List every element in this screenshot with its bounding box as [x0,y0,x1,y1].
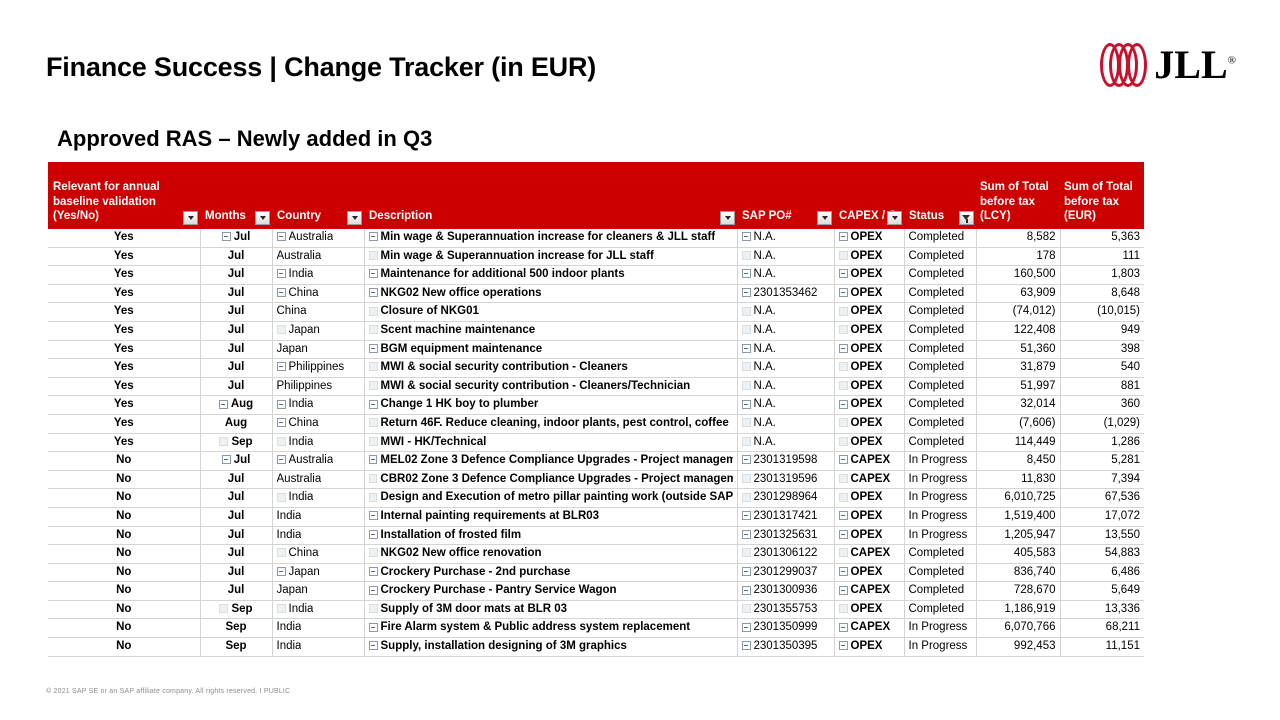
cell-description-text: MWI & social security contribution - Cle… [381,378,691,396]
cell-sum-eur: (1,029) [1060,414,1144,433]
pivot-toggle-placeholder-icon [369,493,378,502]
cell-sum-lcy: 160,500 [976,266,1060,285]
cell-relevant-text: No [116,491,131,503]
cell-status-text: Completed [909,547,965,559]
cell-status: Completed [904,247,976,266]
cell-sum-eur: 54,883 [1060,545,1144,564]
pivot-collapse-icon[interactable] [839,623,848,632]
cell-relevant-text: Yes [114,343,134,355]
chevron-down-icon [188,216,194,220]
pivot-toggle-placeholder-icon [839,307,848,316]
cell-description-text: Closure of NKG01 [381,303,479,321]
cell-status: In Progress [904,619,976,638]
cell-relevant: Yes [48,284,200,303]
cell-sap-po: N.A. [737,321,834,340]
cell-sum-lcy-text: 836,740 [1014,566,1056,578]
filter-dropdown-country[interactable] [347,211,362,225]
cell-status-text: Completed [909,417,965,429]
table-row: YesJulIndiaMaintenance for additional 50… [48,266,1144,285]
pivot-collapse-icon[interactable] [277,418,286,427]
pivot-toggle-placeholder-icon [742,307,751,316]
table-row: YesJulPhilippinesMWI & social security c… [48,377,1144,396]
cell-relevant: No [48,563,200,582]
cell-status-text: In Progress [909,621,968,633]
cell-months: Jul [200,284,272,303]
cell-sum-eur-text: 540 [1121,361,1140,373]
cell-sap-po: 2301325631 [737,526,834,545]
cell-description-text: Fire Alarm system & Public address syste… [381,619,691,637]
cell-status-text: In Progress [909,491,968,503]
table-row: YesJulJapanScent machine maintenanceN.A.… [48,321,1144,340]
cell-status: Completed [904,266,976,285]
cell-sum-eur: 881 [1060,377,1144,396]
cell-country: China [272,284,364,303]
pivot-collapse-icon[interactable] [222,232,231,241]
cell-sap-po: 2301319598 [737,452,834,471]
cell-description: Supply of 3M door mats at BLR 03 [364,600,737,619]
cell-country: Japan [272,563,364,582]
cell-country: China [272,545,364,564]
cell-sap-po-text: N.A. [754,341,776,359]
cell-description: Internal painting requirements at BLR03 [364,507,737,526]
column-header-sum-eur-label: Sum of Total before tax (EUR) [1064,180,1144,224]
cell-sum-lcy-text: 728,670 [1014,584,1056,596]
cell-sum-eur: 68,211 [1060,619,1144,638]
cell-sum-lcy: 114,449 [976,433,1060,452]
cell-capex-opex-text: CAPEX [851,582,891,600]
cell-country-text: China [289,415,319,433]
table-row: NoJulIndiaInstallation of frosted film23… [48,526,1144,545]
cell-status: In Progress [904,526,976,545]
pivot-collapse-icon[interactable] [369,567,378,576]
cell-months: Jul [200,303,272,322]
pivot-collapse-icon[interactable] [742,623,751,632]
cell-sum-lcy-text: 1,519,400 [1004,510,1055,522]
pivot-collapse-icon[interactable] [742,586,751,595]
cell-capex-opex-text: CAPEX [851,471,891,489]
cell-sum-eur-text: 5,281 [1111,454,1140,466]
cell-status-text: In Progress [909,473,968,485]
column-header-sap-po: SAP PO# [737,162,834,229]
pivot-collapse-icon[interactable] [369,288,378,297]
cell-capex-opex: OPEX [834,266,904,285]
cell-sum-lcy: 1,186,919 [976,600,1060,619]
cell-relevant: No [48,638,200,657]
pivot-collapse-icon[interactable] [277,567,286,576]
pivot-toggle-placeholder-icon [369,307,378,316]
pivot-collapse-icon[interactable] [742,455,751,464]
cell-country: India [272,433,364,452]
table-row: NoJulChinaNKG02 New office renovation230… [48,545,1144,564]
cell-relevant: Yes [48,303,200,322]
cell-country-text: Japan [277,582,308,600]
cell-capex-opex-text: CAPEX [851,619,891,637]
cell-description: Scent machine maintenance [364,321,737,340]
jll-wordmark: JLL® [1154,45,1236,85]
cell-sum-eur-text: 11,151 [1106,640,1140,652]
cell-country-text: India [277,527,302,545]
cell-relevant-text: No [116,584,131,596]
cell-sum-eur: 11,151 [1060,638,1144,657]
cell-months-text: Jul [228,508,245,526]
cell-sap-po: N.A. [737,266,834,285]
pivot-toggle-placeholder-icon [369,325,378,334]
cell-sum-lcy: 1,519,400 [976,507,1060,526]
cell-sum-lcy: 6,010,725 [976,489,1060,508]
cell-country: Philippines [272,377,364,396]
cell-capex-opex: OPEX [834,284,904,303]
cell-description-text: Crockery Purchase - 2nd purchase [381,564,571,582]
cell-relevant-text: Yes [114,361,134,373]
cell-sum-lcy-text: 63,909 [1020,287,1055,299]
pivot-toggle-placeholder-icon [369,548,378,557]
pivot-collapse-icon[interactable] [369,511,378,520]
pivot-toggle-placeholder-icon [742,437,751,446]
cell-sum-eur-text: 68,211 [1106,621,1140,633]
pivot-toggle-placeholder-icon [742,251,751,260]
cell-status: Completed [904,396,976,415]
cell-capex-opex: OPEX [834,638,904,657]
cell-sum-lcy-text: 114,449 [1015,436,1056,448]
cell-sum-eur-text: 13,550 [1105,529,1140,541]
cell-sum-lcy: 63,909 [976,284,1060,303]
cell-months-text: Jul [228,489,245,507]
pivot-toggle-placeholder-icon [742,418,751,427]
cell-sum-lcy-text: 6,070,766 [1004,621,1055,633]
cell-sap-po-text: 2301306122 [754,545,818,563]
cell-sap-po: N.A. [737,359,834,378]
pivot-collapse-icon[interactable] [277,288,286,297]
cell-months-text: Sep [231,434,252,452]
cell-status-text: Completed [909,361,965,373]
pivot-toggle-placeholder-icon [369,474,378,483]
cell-relevant-text: No [116,454,131,466]
cell-sap-po: 2301317421 [737,507,834,526]
column-header-relevant-label: Relevant for annual baseline validation … [53,180,200,224]
pivot-collapse-icon[interactable] [369,455,378,464]
pivot-collapse-icon[interactable] [742,232,751,241]
cell-description: MWI & social security contribution - Cle… [364,359,737,378]
cell-country: Japan [272,321,364,340]
cell-sum-lcy: 992,453 [976,638,1060,657]
pivot-collapse-icon[interactable] [839,567,848,576]
cell-description: Design and Execution of metro pillar pai… [364,489,737,508]
pivot-collapse-icon[interactable] [369,344,378,353]
pivot-toggle-placeholder-icon [369,418,378,427]
pivot-collapse-icon[interactable] [742,530,751,539]
cell-capex-opex-text: OPEX [851,359,883,377]
pivot-toggle-placeholder-icon [839,604,848,613]
pivot-toggle-placeholder-icon [839,362,848,371]
column-header-sum-eur: Sum of Total before tax (EUR) [1060,162,1144,229]
cell-sum-eur-text: (1,029) [1104,417,1140,429]
column-header-relevant: Relevant for annual baseline validation … [48,162,200,229]
pivot-collapse-icon[interactable] [369,400,378,409]
cell-description: MEL02 Zone 3 Defence Compliance Upgrades… [364,452,737,471]
cell-months: Aug [200,396,272,415]
cell-description: Change 1 HK boy to plumber [364,396,737,415]
cell-sum-lcy: 8,582 [976,229,1060,247]
cell-capex-opex-text: OPEX [851,564,883,582]
pivot-collapse-icon[interactable] [742,400,751,409]
cell-relevant: Yes [48,247,200,266]
cell-sum-lcy-text: 405,583 [1014,547,1056,559]
pivot-toggle-placeholder-icon [369,437,378,446]
pivot-collapse-icon[interactable] [219,400,228,409]
cell-country: China [272,303,364,322]
cell-sap-po-text: 2301299037 [754,564,818,582]
cell-sum-eur-text: 1,286 [1111,436,1140,448]
chevron-down-icon [725,216,731,220]
cell-capex-opex-text: OPEX [851,229,883,247]
cell-sum-lcy-text: (7,606) [1019,417,1055,429]
cell-sum-eur: 5,649 [1060,582,1144,601]
cell-sum-eur: 13,550 [1060,526,1144,545]
cell-status-text: Completed [909,380,965,392]
cell-description: Return 46F. Reduce cleaning, indoor plan… [364,414,737,433]
pivot-collapse-icon[interactable] [839,400,848,409]
cell-capex-opex: OPEX [834,563,904,582]
cell-description: MWI & social security contribution - Cle… [364,377,737,396]
cell-relevant-text: Yes [114,250,134,262]
cell-sap-po: 2301299037 [737,563,834,582]
column-header-country: Country [272,162,364,229]
table-row: YesJulAustraliaMin wage & Superannuation… [48,247,1144,266]
cell-relevant-text: No [116,566,131,578]
cell-sum-eur: 8,648 [1060,284,1144,303]
pivot-collapse-icon[interactable] [222,455,231,464]
pivot-collapse-icon[interactable] [369,641,378,650]
cell-country: Australia [272,452,364,471]
cell-description-text: Crockery Purchase - Pantry Service Wagon [381,582,617,600]
cell-capex-opex-text: OPEX [851,378,883,396]
cell-months: Jul [200,340,272,359]
cell-sap-po-text: N.A. [754,378,776,396]
pivot-collapse-icon[interactable] [742,344,751,353]
pivot-collapse-icon[interactable] [839,530,848,539]
cell-sum-lcy: (74,012) [976,303,1060,322]
cell-status-text: In Progress [909,529,968,541]
cell-sum-eur: 111 [1060,247,1144,266]
filter-dropdown-capex-opex[interactable] [887,211,902,225]
pivot-collapse-icon[interactable] [742,567,751,576]
pivot-collapse-icon[interactable] [277,232,286,241]
pivot-collapse-icon[interactable] [839,288,848,297]
cell-status-text: Completed [909,436,965,448]
cell-sum-eur-text: 1,803 [1111,268,1140,280]
pivot-collapse-icon[interactable] [839,511,848,520]
pivot-collapse-icon[interactable] [369,623,378,632]
cell-months: Jul [200,489,272,508]
cell-description-text: Maintenance for additional 500 indoor pl… [381,266,625,284]
cell-relevant: Yes [48,414,200,433]
pivot-collapse-icon[interactable] [839,586,848,595]
cell-capex-opex: OPEX [834,526,904,545]
filter-dropdown-relevant[interactable] [183,211,198,225]
cell-country-text: Australia [277,471,322,489]
pivot-collapse-icon[interactable] [742,511,751,520]
table-row: YesAugChinaReturn 46F. Reduce cleaning, … [48,414,1144,433]
cell-relevant: Yes [48,229,200,247]
cell-sap-po-text: N.A. [754,322,776,340]
cell-country: India [272,619,364,638]
pivot-collapse-icon[interactable] [369,586,378,595]
cell-months: Aug [200,414,272,433]
cell-capex-opex-text: OPEX [851,266,883,284]
cell-description-text: MWI - HK/Technical [381,434,487,452]
cell-sum-lcy-text: 1,186,919 [1004,603,1055,615]
cell-sum-eur: 13,336 [1060,600,1144,619]
cell-sap-po: 2301298964 [737,489,834,508]
cell-sap-po: 2301355753 [737,600,834,619]
cell-months-text: Jul [228,564,245,582]
cell-description-text: Internal painting requirements at BLR03 [381,508,600,526]
cell-months: Jul [200,507,272,526]
cell-country: Australia [272,247,364,266]
cell-relevant: No [48,619,200,638]
cell-relevant-text: Yes [114,324,134,336]
cell-capex-opex: OPEX [834,414,904,433]
pivot-collapse-icon[interactable] [839,344,848,353]
cell-status: Completed [904,545,976,564]
cell-sap-po-text: 2301355753 [754,601,818,619]
pivot-toggle-placeholder-icon [839,381,848,390]
cell-sum-lcy-text: 32,014 [1020,398,1055,410]
cell-country-text: India [289,396,314,414]
table-row: YesSepIndiaMWI - HK/TechnicalN.A.OPEXCom… [48,433,1144,452]
pivot-collapse-icon[interactable] [839,232,848,241]
cell-months-text: Jul [228,248,245,266]
cell-capex-opex: OPEX [834,340,904,359]
pivot-toggle-placeholder-icon [839,437,848,446]
cell-description-text: Installation of frosted film [381,527,522,545]
pivot-toggle-placeholder-icon [742,604,751,613]
cell-sap-po-text: N.A. [754,359,776,377]
cell-months: Sep [200,433,272,452]
table-body: YesJulAustraliaMin wage & Superannuation… [48,229,1144,656]
table-row: NoSepIndiaFire Alarm system & Public add… [48,619,1144,638]
cell-country-text: India [289,434,314,452]
pivot-collapse-icon[interactable] [839,641,848,650]
jll-logo: JLL® [1100,42,1236,88]
cell-capex-opex: OPEX [834,359,904,378]
pivot-toggle-placeholder-icon [839,251,848,260]
cell-months-text: Sep [231,601,252,619]
cell-months: Jul [200,526,272,545]
pivot-collapse-icon[interactable] [839,455,848,464]
pivot-collapse-icon[interactable] [369,232,378,241]
cell-sum-lcy: 836,740 [976,563,1060,582]
cell-relevant: Yes [48,396,200,415]
cell-status-text: Completed [909,603,965,615]
filter-dropdown-description[interactable] [720,211,735,225]
cell-sap-po-text: 2301353462 [754,285,818,303]
cell-relevant-text: Yes [114,287,134,299]
cell-months: Sep [200,600,272,619]
cell-relevant: No [48,600,200,619]
column-header-status: Status [904,162,976,229]
cell-country-text: Australia [277,248,322,266]
pivot-collapse-icon[interactable] [277,455,286,464]
cell-relevant: No [48,489,200,508]
filter-dropdown-sap-po[interactable] [817,211,832,225]
pivot-toggle-placeholder-icon [369,251,378,260]
cell-status-text: Completed [909,268,965,280]
cell-sum-lcy-text: (74,012) [1013,305,1056,317]
cell-capex-opex-text: OPEX [851,285,883,303]
cell-country: India [272,526,364,545]
pivot-collapse-icon[interactable] [277,269,286,278]
cell-description-text: Design and Execution of metro pillar pai… [380,489,732,507]
cell-sum-lcy: 1,205,947 [976,526,1060,545]
cell-sum-eur: 949 [1060,321,1144,340]
pivot-collapse-icon[interactable] [277,400,286,409]
cell-country-text: India [289,266,314,284]
cell-sum-lcy: 11,830 [976,470,1060,489]
cell-capex-opex-text: OPEX [851,638,883,656]
cell-status-text: Completed [909,343,965,355]
pivot-collapse-icon[interactable] [277,362,286,371]
pivot-toggle-placeholder-icon [742,325,751,334]
cell-country-text: Japan [289,564,320,582]
cell-country-text: Japan [289,322,320,340]
cell-sum-eur-text: 7,394 [1111,473,1140,485]
cell-country: Japan [272,340,364,359]
cell-relevant-text: No [116,640,131,652]
cell-description-text: NKG02 New office renovation [381,545,542,563]
filter-dropdown-months[interactable] [255,211,270,225]
pivot-collapse-icon[interactable] [742,288,751,297]
pivot-collapse-icon[interactable] [742,269,751,278]
cell-country: India [272,507,364,526]
cell-sap-po-text: N.A. [754,229,776,247]
cell-months-text: Jul [234,229,251,247]
cell-sap-po: N.A. [737,433,834,452]
table-row: YesJulChinaNKG02 New office operations23… [48,284,1144,303]
cell-capex-opex: CAPEX [834,619,904,638]
cell-capex-opex: CAPEX [834,582,904,601]
cell-capex-opex-text: OPEX [851,248,883,266]
cell-sap-po: N.A. [737,414,834,433]
pivot-toggle-placeholder-icon [742,474,751,483]
pivot-collapse-icon[interactable] [839,269,848,278]
pivot-toggle-placeholder-icon [277,548,286,557]
cell-months-text: Jul [228,322,245,340]
cell-country-text: China [277,303,307,321]
cell-sap-po: N.A. [737,340,834,359]
cell-sum-lcy: (7,606) [976,414,1060,433]
cell-country-text: India [289,601,314,619]
pivot-collapse-icon[interactable] [742,641,751,650]
cell-sum-lcy-text: 11,830 [1021,473,1055,485]
table-row: NoJulIndiaDesign and Execution of metro … [48,489,1144,508]
cell-sum-eur: 67,536 [1060,489,1144,508]
cell-capex-opex-text: OPEX [851,508,883,526]
cell-sap-po: 2301306122 [737,545,834,564]
cell-description: Closure of NKG01 [364,303,737,322]
filter-active-status[interactable] [959,211,974,225]
pivot-toggle-placeholder-icon [277,437,286,446]
cell-sum-eur-text: 13,336 [1105,603,1140,615]
pivot-collapse-icon[interactable] [369,269,378,278]
cell-relevant: No [48,507,200,526]
pivot-collapse-icon[interactable] [369,530,378,539]
cell-capex-opex: OPEX [834,377,904,396]
cell-status: Completed [904,303,976,322]
cell-status-text: Completed [909,584,965,596]
cell-relevant: No [48,526,200,545]
cell-sum-eur-text: 8,648 [1111,287,1140,299]
